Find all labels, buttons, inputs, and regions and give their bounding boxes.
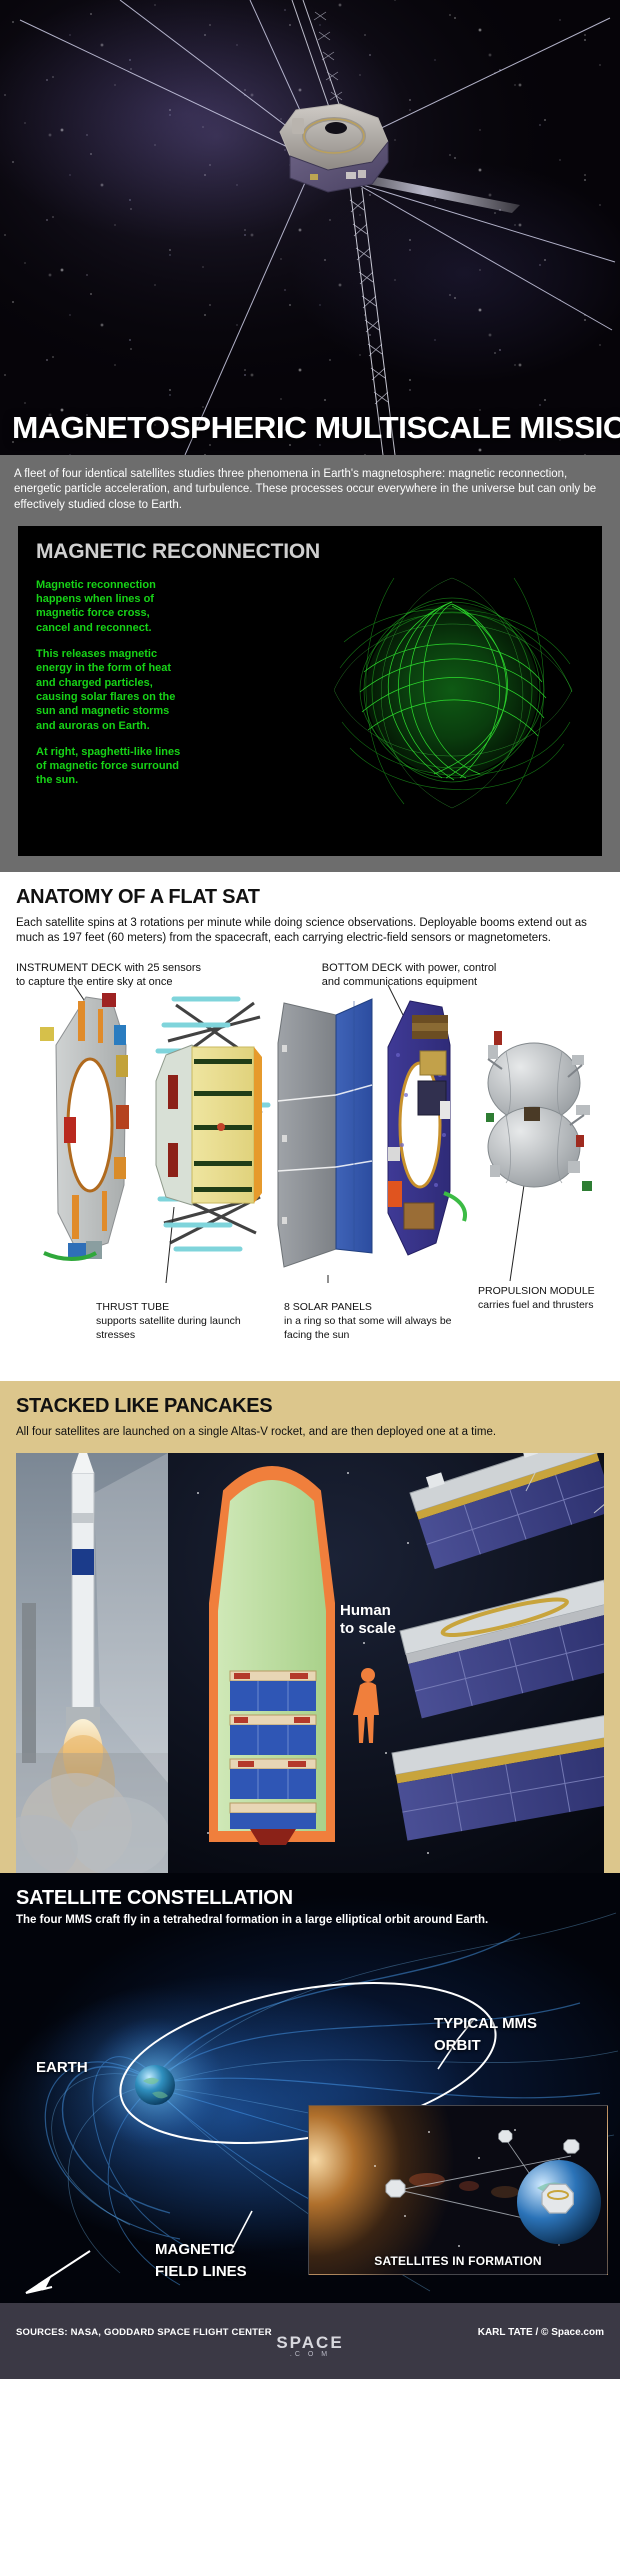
exploded-spacecraft-diagram (16, 985, 604, 1285)
satellite-constellation-section: SATELLITE CONSTELLATION The four MMS cra… (0, 1873, 620, 2303)
anatomy-heading: ANATOMY OF A FLAT SAT (16, 886, 604, 909)
human-scale-label-line1: Human (340, 1602, 391, 1619)
satellites-in-formation-inset: SATELLITES IN FORMATION (308, 2105, 608, 2275)
logo-wordmark: SPACE (0, 2333, 620, 2353)
stacked-like-pancakes-section: STACKED LIKE PANCAKES All four satellite… (0, 1381, 620, 1873)
page-title: MAGNETOSPHERIC MULTISCALE MISSION (12, 412, 620, 443)
mms-spacecraft-illustration (0, 0, 620, 455)
callout-propulsion-module-detail: carries fuel and thrusters (478, 1299, 594, 1311)
callout-solar-panels-detail: in a ring so that some will always be fa… (284, 1315, 452, 1341)
sun-magnetic-field-illustration (334, 572, 574, 812)
human-scale-label-line2: to scale (340, 1620, 396, 1637)
intro-paragraph: A fleet of four identical satellites stu… (0, 455, 620, 526)
label-orbit-line2: ORBIT (434, 2037, 481, 2054)
hero-section: MAGNETOSPHERIC MULTISCALE MISSION (0, 0, 620, 455)
space-com-logo[interactable]: SPACE .C O M (0, 2333, 620, 2358)
anatomy-section: ANATOMY OF A FLAT SAT Each satellite spi… (0, 872, 620, 1382)
logo-domain: .C O M (0, 2351, 620, 2358)
magnetic-reconnection-section: MAGNETIC RECONNECTION Magnetic reconnect… (0, 526, 620, 872)
reconnection-copy: Magnetic reconnection happens when lines… (36, 578, 186, 800)
pancakes-imagery: Human to scale (16, 1453, 604, 1873)
inset-caption: SATELLITES IN FORMATION (309, 2254, 607, 2268)
label-field-lines-line1: MAGNETIC (155, 2241, 235, 2258)
label-orbit-line1: TYPICAL MMS (434, 2015, 537, 2032)
stacked-satellites-photo: Human to scale (168, 1453, 604, 1873)
pancakes-heading: STACKED LIKE PANCAKES (16, 1395, 604, 1418)
to-sun-arrow-icon (26, 2251, 90, 2293)
constellation-heading: SATELLITE CONSTELLATION (16, 1887, 293, 1910)
rocket-launch-photo (16, 1453, 168, 1873)
pancakes-body: All four satellites are launched on a si… (16, 1425, 604, 1441)
label-field-lines-line2: FIELD LINES (155, 2263, 247, 2280)
anatomy-body: Each satellite spins at 3 rotations per … (16, 916, 604, 947)
callout-instrument-deck-caption: INSTRUMENT DECK with 25 sensors (16, 962, 201, 974)
constellation-subtext: The four MMS craft fly in a tetrahedral … (16, 1913, 488, 1929)
reconnection-heading: MAGNETIC RECONNECTION (36, 540, 320, 564)
footer: SOURCES: NASA, GODDARD SPACE FLIGHT CENT… (0, 2303, 620, 2379)
callout-thrust-tube-caption: THRUST TUBE (96, 1301, 276, 1315)
callout-thrust-tube: THRUST TUBE supports satellite during la… (96, 1301, 276, 1343)
label-to-sun: TO SUN (26, 2301, 82, 2303)
reconnection-paragraph-2: This releases magnetic energy in the for… (36, 647, 186, 733)
callout-propulsion-module: PROPULSION MODULE carries fuel and thrus… (478, 1285, 598, 1313)
callout-solar-panels-caption: 8 SOLAR PANELS (284, 1301, 462, 1315)
label-earth: EARTH (36, 2059, 88, 2076)
reconnection-paragraph-3: At right, spaghetti-like lines of magnet… (36, 745, 186, 788)
anatomy-bottom-callouts: THRUST TUBE supports satellite during la… (16, 1285, 604, 1371)
callout-solar-panels: 8 SOLAR PANELS in a ring so that some wi… (284, 1301, 462, 1343)
infographic-page: MAGNETOSPHERIC MULTISCALE MISSION A flee… (0, 0, 620, 2379)
callout-thrust-tube-detail: supports satellite during launch stresse… (96, 1315, 241, 1341)
callout-bottom-deck-caption: BOTTOM DECK with power, control (322, 962, 497, 974)
reconnection-paragraph-1: Magnetic reconnection happens when lines… (36, 578, 186, 635)
callout-propulsion-module-caption: PROPULSION MODULE (478, 1285, 598, 1299)
